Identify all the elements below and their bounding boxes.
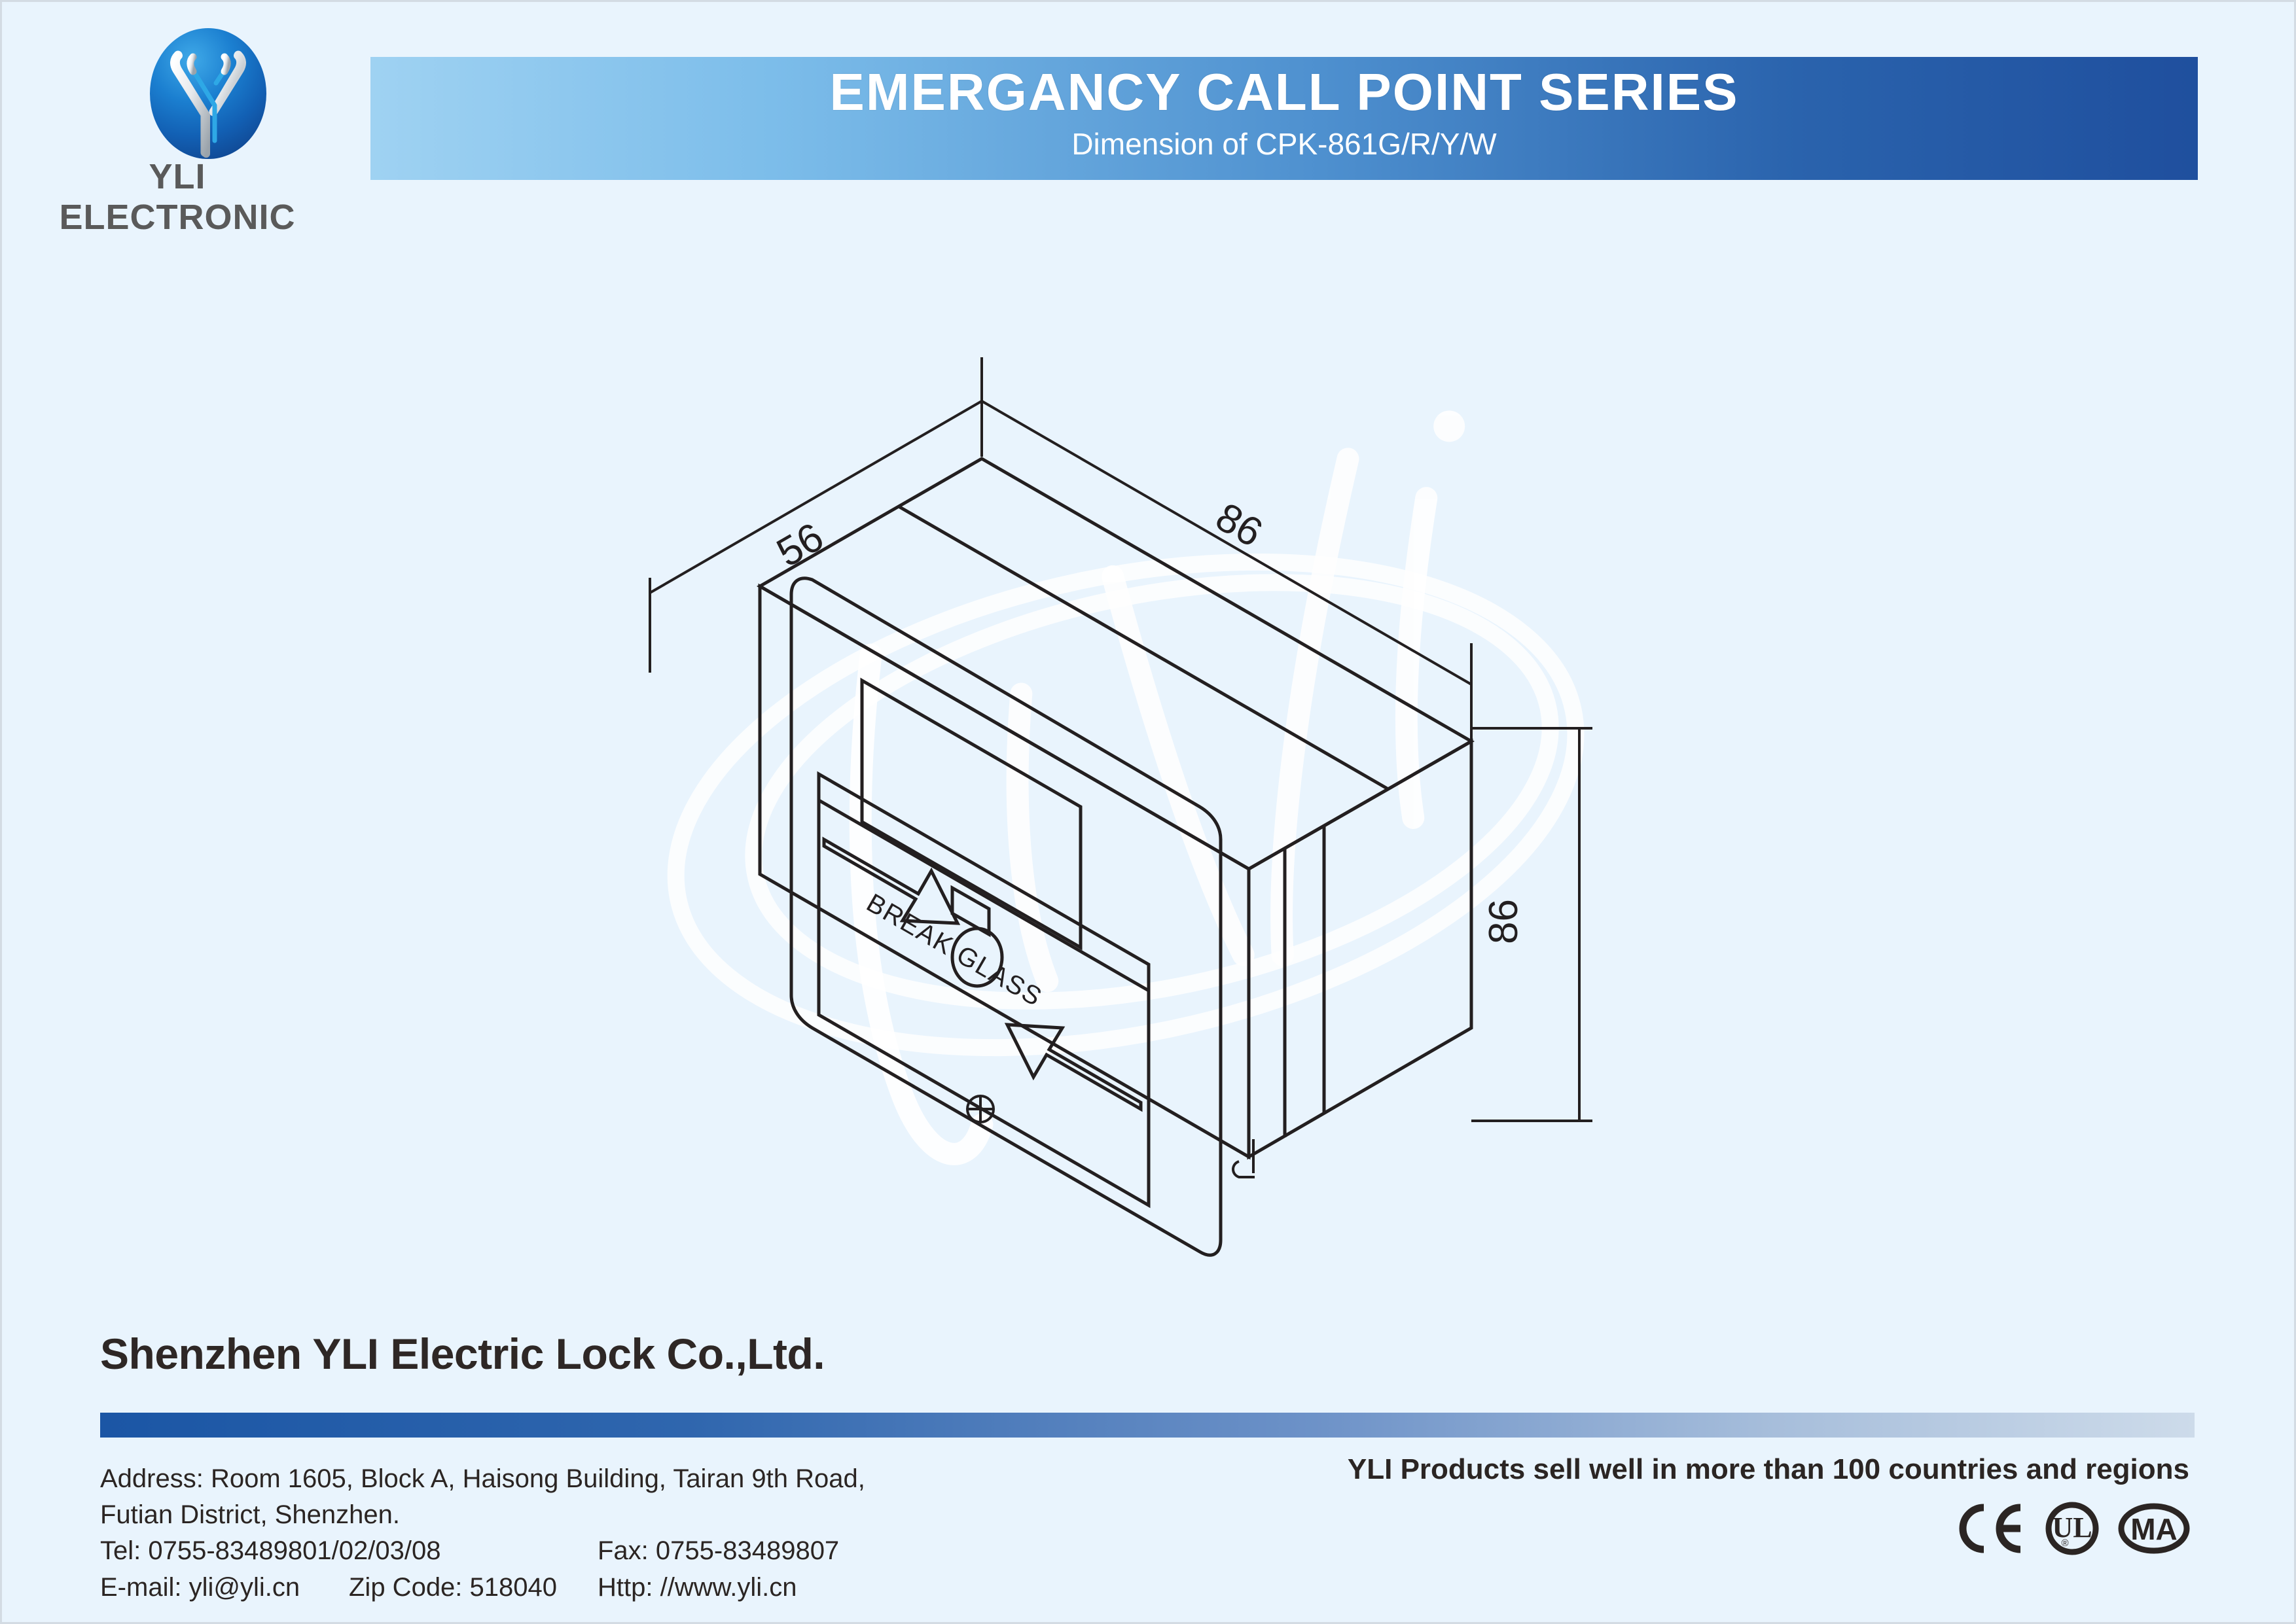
svg-text:MA: MA [2130, 1512, 2178, 1546]
ma-mark-icon: MA [2117, 1500, 2191, 1557]
hinge-detail [1233, 1139, 1255, 1177]
telephone: Tel: 0755-83489801/02/03/08 [100, 1533, 598, 1569]
company-address-block: Address: Room 1605, Block A, Haisong Bui… [100, 1461, 1213, 1606]
header-banner: EMERGANCY CALL POINT SERIES Dimension of… [370, 57, 2198, 180]
dimension-label-width: 86 [1208, 494, 1270, 556]
screw-icon [967, 1096, 994, 1122]
box-top-face [760, 459, 1471, 869]
sales-tagline: YLI Products sell well in more than 100 … [1348, 1453, 2189, 1486]
product-dimension-drawing: 56 86 86 BREAK GLASS [591, 342, 1704, 1271]
certification-marks: UL ® MA [1955, 1500, 2191, 1557]
svg-text:®: ® [2061, 1538, 2068, 1549]
front-bezel-outline [791, 578, 1221, 1255]
box-right-face [1249, 741, 1471, 1157]
dimension-label-depth: 56 [770, 514, 831, 576]
fax: Fax: 0755-83489807 [598, 1533, 839, 1569]
label-plate [819, 774, 1149, 1205]
yli-sphere-logo-icon [150, 28, 266, 159]
svg-text:UL: UL [2052, 1511, 2092, 1544]
company-name: Shenzhen YLI Electric Lock Co.,Ltd. [100, 1329, 825, 1379]
page-title: EMERGANCY CALL POINT SERIES [370, 66, 2198, 118]
brand-logo: YLI ELECTRONIC [40, 16, 367, 206]
address-line-2: Futian District, Shenzhen. [100, 1497, 1213, 1533]
datasheet-page: YLI ELECTRONIC EMERGANCY CALL POINT SERI… [0, 0, 2296, 1624]
right-arrow-indicator [1007, 1025, 1141, 1109]
box-front-face [760, 586, 1249, 1157]
logo-y-glyph-icon [150, 28, 266, 159]
isometric-drawing-svg: 56 86 86 BREAK GLASS [591, 342, 1704, 1271]
page-subtitle: Dimension of CPK-861G/R/Y/W [370, 129, 2198, 159]
brand-logo-text: YLI ELECTRONIC [40, 156, 315, 238]
footer-divider [100, 1413, 2195, 1438]
ce-mark-icon [1955, 1501, 2027, 1556]
ul-mark-icon: UL ® [2044, 1500, 2100, 1557]
website-url[interactable]: Http: //www.yli.cn [598, 1570, 797, 1606]
drawing-labels: 56 86 86 BREAK GLASS [770, 494, 1527, 1012]
address-line-1: Address: Room 1605, Block A, Haisong Bui… [100, 1461, 1213, 1497]
dimension-label-height: 86 [1481, 899, 1526, 944]
zip-code: Zip Code: 518040 [349, 1570, 598, 1606]
email[interactable]: E-mail: yli@yli.cn [100, 1570, 349, 1606]
